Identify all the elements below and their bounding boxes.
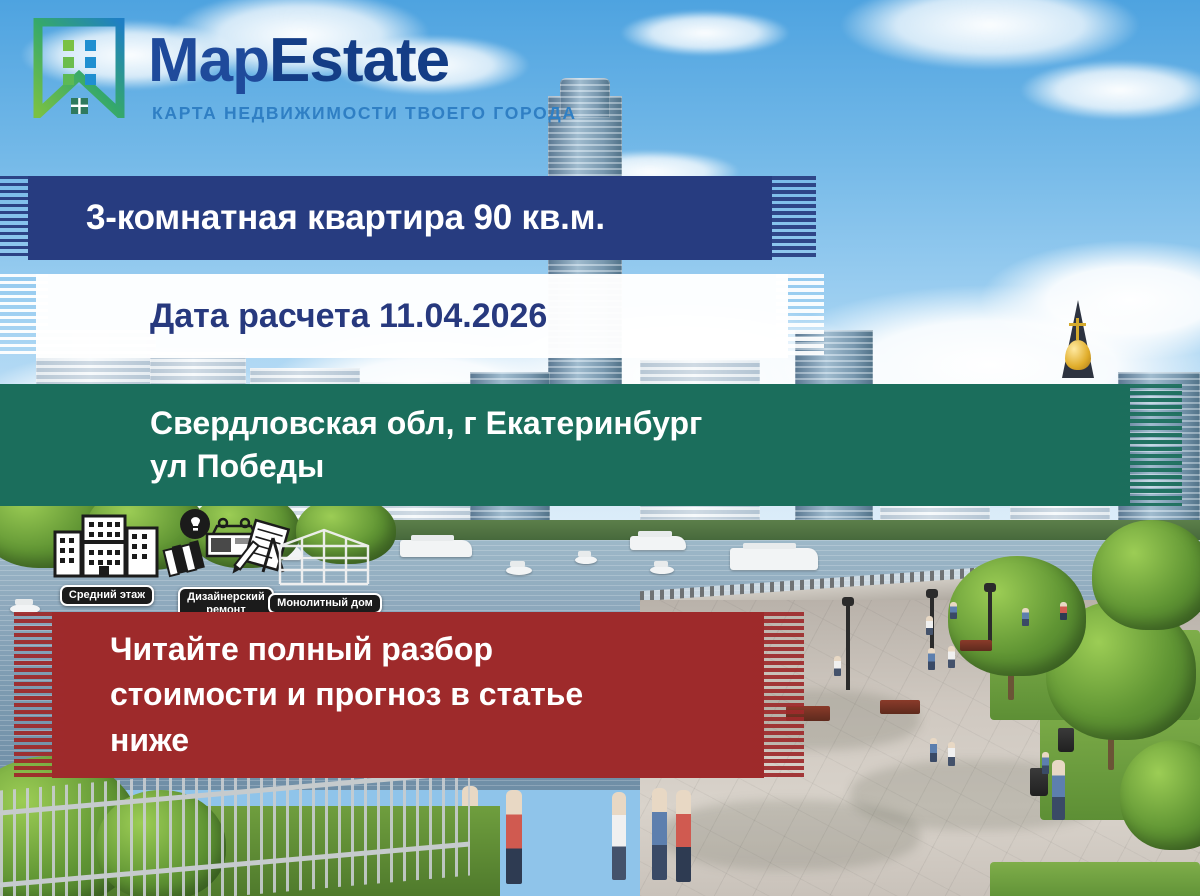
pedestrian xyxy=(506,790,522,884)
monolithic-frame-icon xyxy=(260,528,390,591)
badge-middle-floor: Средний этаж xyxy=(48,512,166,606)
small-boat xyxy=(650,566,674,574)
property-banner: 3-комнатная квартира 90 кв.м. xyxy=(28,176,772,260)
bench xyxy=(960,640,992,651)
logo[interactable]: MapEstate КАРТА НЕДВИЖИМОСТИ ТВОЕГО ГОРО… xyxy=(30,18,590,126)
trash-bin xyxy=(1058,728,1074,752)
bookmark-building-icon xyxy=(30,18,128,118)
brush-edge-right xyxy=(760,176,816,260)
badge-monolithic-house: Монолитный дом xyxy=(260,528,390,614)
logo-word-estate: Estate xyxy=(269,26,449,95)
pedestrian xyxy=(834,656,841,676)
badge-label: Средний этаж xyxy=(60,585,154,606)
logo-word-map: Map xyxy=(148,26,269,95)
pedestrian xyxy=(948,646,955,668)
river-boat xyxy=(400,540,472,557)
feature-badges: Средний этаж xyxy=(48,512,388,608)
pedestrian xyxy=(1022,608,1029,626)
pedestrian xyxy=(612,792,626,880)
river-boat xyxy=(630,536,686,550)
pedestrian xyxy=(1060,602,1067,620)
river-boat xyxy=(730,548,818,570)
cta-banner: Читайте полный разбор стоимости и прогно… xyxy=(52,612,764,778)
pedestrian xyxy=(1052,760,1065,820)
lawn xyxy=(990,862,1200,896)
tree xyxy=(1092,520,1200,630)
address-banner-text: Свердловская обл, г Екатеринбург ул Побе… xyxy=(150,402,702,488)
badge-label: Монолитный дом xyxy=(268,593,382,614)
brush-edge-left xyxy=(0,274,48,358)
cta-banner-text: Читайте полный разбор стоимости и прогно… xyxy=(110,627,583,763)
pedestrian xyxy=(928,648,935,670)
logo-tagline: КАРТА НЕДВИЖИМОСТИ ТВОЕГО ГОРОДА xyxy=(152,103,577,124)
church-cross xyxy=(1076,318,1079,340)
small-boat xyxy=(575,556,597,564)
brush-edge-right xyxy=(752,612,804,778)
property-banner-text: 3-комнатная квартира 90 кв.м. xyxy=(86,196,605,240)
brush-edge-right xyxy=(776,274,824,358)
church-dome xyxy=(1065,340,1091,370)
pedestrian xyxy=(652,788,667,880)
pedestrian xyxy=(948,742,955,766)
pedestrian xyxy=(676,790,691,882)
lamp-post xyxy=(846,604,850,690)
pedestrian xyxy=(926,616,933,635)
brush-edge-right xyxy=(1118,384,1182,506)
poster: MapEstate КАРТА НЕДВИЖИМОСТИ ТВОЕГО ГОРО… xyxy=(0,0,1200,896)
small-boat xyxy=(506,566,532,575)
pedestrian xyxy=(930,738,937,762)
building-floors-icon xyxy=(48,512,166,583)
address-banner: Свердловская обл, г Екатеринбург ул Побе… xyxy=(0,384,1130,506)
brush-edge-left xyxy=(14,612,64,778)
bench xyxy=(880,700,920,714)
date-banner: Дата расчета 11.04.2026 xyxy=(36,274,788,358)
logo-wordmark: MapEstate xyxy=(148,30,449,92)
pedestrian xyxy=(950,602,957,619)
brush-edge-left xyxy=(0,176,40,260)
pedestrian xyxy=(1042,752,1049,774)
date-banner-text: Дата расчета 11.04.2026 xyxy=(150,295,547,338)
cloud xyxy=(620,10,790,56)
tree-shadow xyxy=(660,800,920,870)
